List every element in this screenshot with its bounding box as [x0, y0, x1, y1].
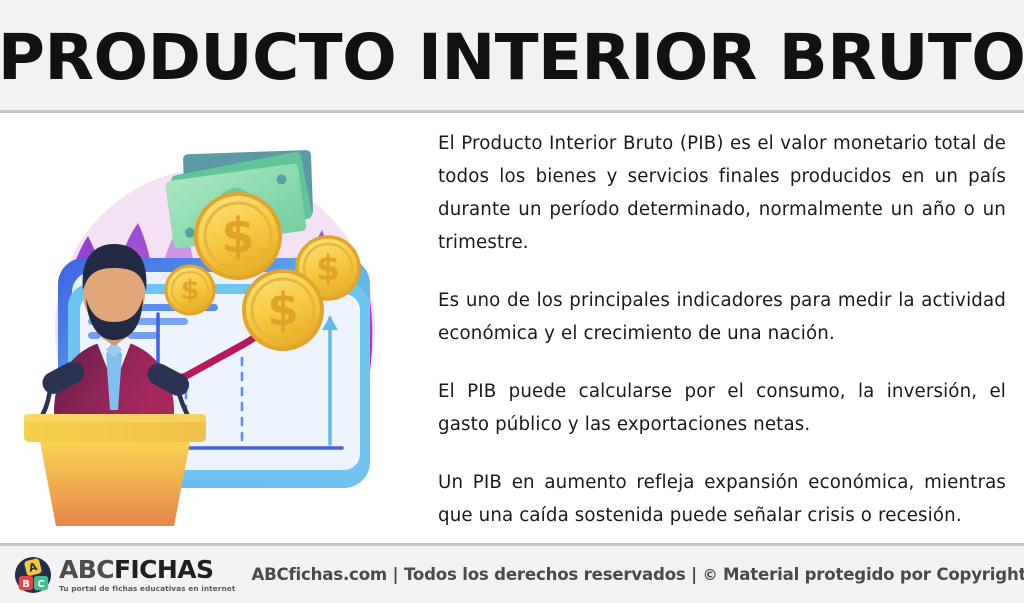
abc-fichas-logo-icon: A B C	[14, 556, 52, 594]
paragraph-calculation: El PIB puede calcularse por el consumo, …	[438, 375, 1006, 441]
svg-text:$: $	[181, 275, 200, 306]
illustration-column: $ $ $	[0, 113, 420, 543]
gdp-illustration: $ $ $	[10, 118, 410, 538]
footer-bar: A B C ABCFICHAS Tu portal de fichas educ…	[0, 543, 1024, 603]
paragraph-interpretation: Un PIB en aumento refleja expansión econ…	[438, 466, 1006, 532]
content-area: $ $ $	[0, 113, 1024, 543]
podium	[24, 414, 206, 526]
paragraph-definition: El Producto Interior Bruto (PIB) es el v…	[438, 127, 1006, 259]
copyright-notice-tail: Material protegido por Copyright	[717, 565, 1024, 584]
header-banner: PRODUCTO INTERIOR BRUTO	[0, 0, 1024, 113]
brand-text-block: ABCFICHAS Tu portal de fichas educativas…	[59, 557, 235, 592]
brand-name-abc: ABC	[59, 555, 114, 584]
svg-text:$: $	[316, 249, 340, 289]
copyright-notice: ABCfichas.com | Todos los derechos reser…	[251, 565, 1024, 584]
brand-name: ABCFICHAS	[59, 557, 235, 582]
paragraph-indicator: Es uno de los principales indicadores pa…	[438, 284, 1006, 350]
copyright-notice-head: ABCfichas.com | Todos los derechos reser…	[251, 565, 702, 584]
coin-large-1: $	[196, 194, 280, 278]
svg-text:$: $	[267, 283, 298, 336]
page-title: PRODUCTO INTERIOR BRUTO	[0, 22, 1024, 89]
svg-text:$: $	[221, 208, 254, 264]
brand-block[interactable]: A B C ABCFICHAS Tu portal de fichas educ…	[14, 556, 235, 594]
coin-large-2: $	[244, 271, 322, 349]
copyright-symbol-icon: ©	[703, 566, 718, 584]
svg-text:B: B	[22, 578, 30, 589]
description-column: El Producto Interior Bruto (PIB) es el v…	[420, 113, 1024, 543]
svg-text:C: C	[37, 578, 44, 589]
brand-name-fichas: FICHAS	[114, 555, 213, 584]
brand-tagline: Tu portal de fichas educativas en intern…	[59, 585, 235, 592]
infographic-sheet: PRODUCTO INTERIOR BRUTO	[0, 0, 1024, 603]
coin-small: $	[166, 266, 214, 314]
